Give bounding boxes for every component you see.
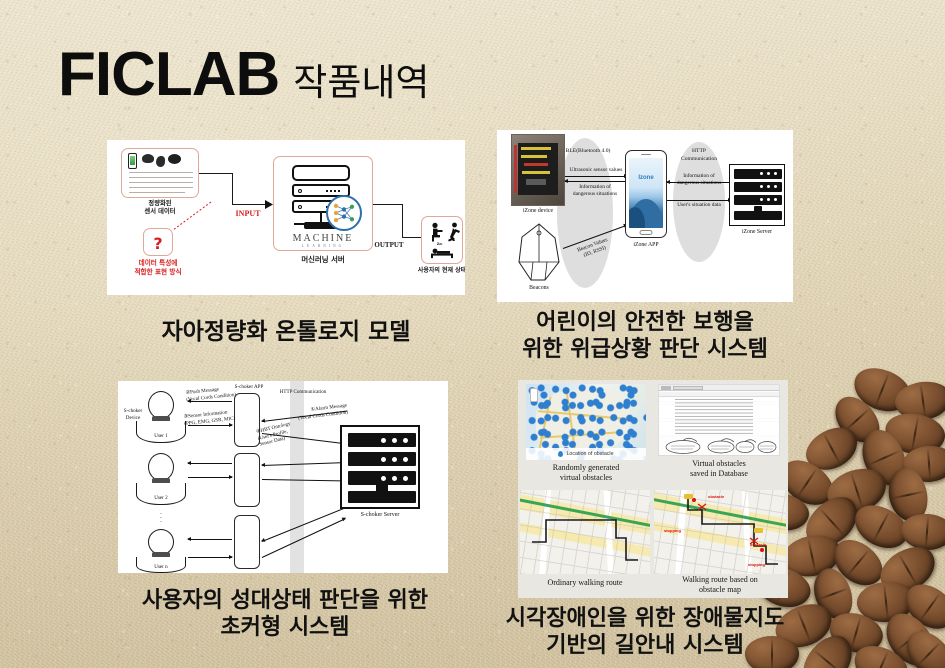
caption-obstacle-map: 시각장애인을 위한 장애물지도 기반의 길안내 시스템 <box>480 606 810 660</box>
user-1-label: User 1 <box>146 433 176 440</box>
ultrasonic-edge-label: Ultrasonic sensor values <box>561 167 631 174</box>
izone-app-phone: Izone <box>625 150 667 238</box>
user-2-ontology-arrow <box>262 479 348 481</box>
ml-server-box: MACHINE LEARNING <box>273 156 373 251</box>
output-wire-h2 <box>402 237 422 238</box>
ordinary-route-cell: Ordinary walking route <box>520 490 650 594</box>
user-state-box: zzz <box>421 216 463 264</box>
obstacle-marker-text-2: obstacle <box>750 542 766 547</box>
sleeping-person-icon <box>430 246 456 264</box>
izone-server-label: iZone Server <box>725 229 789 237</box>
coffee-bean <box>900 512 945 552</box>
running-person-icon <box>446 222 461 247</box>
project-panel-schoker[interactable]: HTTP Communication S-choker Device User … <box>118 381 448 573</box>
page-title: FICLAB 작품내역 <box>58 44 429 106</box>
neural-network-icon <box>326 195 362 231</box>
obstacle-route-caption: Walking route based on obstacle map <box>654 575 786 595</box>
output-wire-v <box>402 204 403 238</box>
output-edge-label: OUTPUT <box>365 241 413 250</box>
user-n-push-arrow <box>188 539 232 540</box>
user-2-head <box>148 453 174 481</box>
user-n-sensor-arrow <box>188 557 232 558</box>
user-state-label: 사용자의 현재 상태 <box>407 267 465 275</box>
user-2-shoulders <box>136 483 186 505</box>
caption-izone: 어린이의 안전한 보행을 위한 위급상황 판단 시스템 <box>490 310 800 364</box>
s-choker-app-phone-3 <box>234 515 260 569</box>
stopping-marker-text: stopping <box>664 528 681 533</box>
earbud-icon <box>168 154 181 164</box>
database-obstacles-cell: Virtual obstacles saved in Database <box>658 384 780 488</box>
ml-logo-label: MACHINE <box>274 233 372 244</box>
obstacle-route-map: obstacle stopping obstacle stopping <box>654 490 786 574</box>
danger-info-arrow <box>565 181 627 182</box>
input-wire-h <box>199 173 233 174</box>
obstacle-legend-marker-icon <box>558 451 563 457</box>
project-panel-obstacle-map[interactable]: Location of obstacle Randomly generated … <box>518 380 788 598</box>
ontology-flow-diagram <box>663 437 777 455</box>
title-main: FICLAB <box>58 44 279 106</box>
ultrasonic-arrow <box>565 176 627 177</box>
project-panel-izone[interactable]: iZone device Beacons BLE(Bluetooth 4.0) … <box>497 130 793 302</box>
user-1-head <box>148 391 174 419</box>
danger-info-edge-label: Information of dangerous situations <box>559 184 631 199</box>
http-channel-label: HTTP Communication <box>669 148 729 163</box>
user-2-alarm-arrow <box>262 462 348 466</box>
random-obstacles-cell: Location of obstacle Randomly generated … <box>526 384 646 488</box>
s-choker-device-label: S-choker Device <box>118 408 150 421</box>
izone-device-photo <box>511 134 565 206</box>
sensor-data-card <box>121 148 199 198</box>
server-top <box>292 165 350 181</box>
random-obstacles-caption: Randomly generated virtual obstacles <box>526 463 646 483</box>
beacon-icon <box>515 222 563 284</box>
ordinary-route-caption: Ordinary walking route <box>520 578 650 588</box>
earbud-icon <box>142 154 154 163</box>
question-mark: ? <box>144 234 172 255</box>
input-wire-v <box>232 173 233 205</box>
s-choker-app-phone-2 <box>234 453 260 507</box>
user-2-push-arrow <box>188 463 232 464</box>
ordinary-route-map <box>520 490 650 574</box>
izone-server-rack <box>729 164 785 226</box>
random-obstacles-map: Location of obstacle <box>526 384 646 460</box>
ml-server-label: 머신러닝 서버 <box>273 255 373 265</box>
output-wire-h <box>373 204 403 205</box>
caption-schoker: 사용자의 성대상태 판단을 위한 초커형 시스템 <box>95 588 475 642</box>
izone-app-screen-label: Izone <box>629 175 663 181</box>
phone-icon <box>128 153 137 169</box>
user-1-shoulders <box>136 421 186 443</box>
input-wire-h2 <box>232 204 268 205</box>
ml-logo-sub-label: LEARNING <box>274 244 372 248</box>
http-channel-label: HTTP Communication <box>268 389 338 396</box>
s-choker-server-rack <box>340 425 420 509</box>
user-n-label: User n <box>146 564 176 571</box>
question-note-label: 데이터 특성에 적합한 표현 방식 <box>115 259 201 276</box>
danger-info-server-edge-label: Information of dangerous situations <box>665 173 733 188</box>
user-situation-arrow <box>667 200 731 201</box>
obstacle-marker-text: obstacle <box>708 494 724 499</box>
obstacle-route-cell: obstacle stopping obstacle stopping Walk… <box>654 490 786 594</box>
ordinary-walking-path <box>520 490 650 574</box>
database-table-screenshot <box>658 384 780 456</box>
project-panel-ontology[interactable]: 정량화된 센서 데이터 ? 데이터 특성에 적합한 표현 방식 INPUT <box>107 140 465 295</box>
database-obstacles-caption: Virtual obstacles saved in Database <box>658 459 780 479</box>
user-2-label: User 2 <box>146 495 176 502</box>
obstacle-legend-label: Location of obstacle <box>566 451 613 457</box>
s-choker-server-label: S-choker Server <box>340 512 420 520</box>
izone-app-label: iZone APP <box>619 242 673 250</box>
earbud-icon <box>156 156 165 167</box>
izone-device-label: iZone device <box>505 208 571 216</box>
user-2-sensor-arrow <box>188 477 232 478</box>
ellipsis-dots: ... <box>160 511 162 523</box>
beacons-label: Beacons <box>511 285 567 293</box>
input-edge-label: INPUT <box>225 209 271 219</box>
dotted-connector <box>165 200 215 234</box>
user-situation-edge-label: User's situation data <box>663 202 735 209</box>
ble-channel-label: BLE(Bluetooth 4.0) <box>553 148 623 156</box>
title-subtitle: 작품내역 <box>293 64 429 101</box>
stopping-marker-text-2: stopping <box>748 562 765 567</box>
caption-ontology: 자아정량화 온톨로지 모델 <box>107 318 465 346</box>
